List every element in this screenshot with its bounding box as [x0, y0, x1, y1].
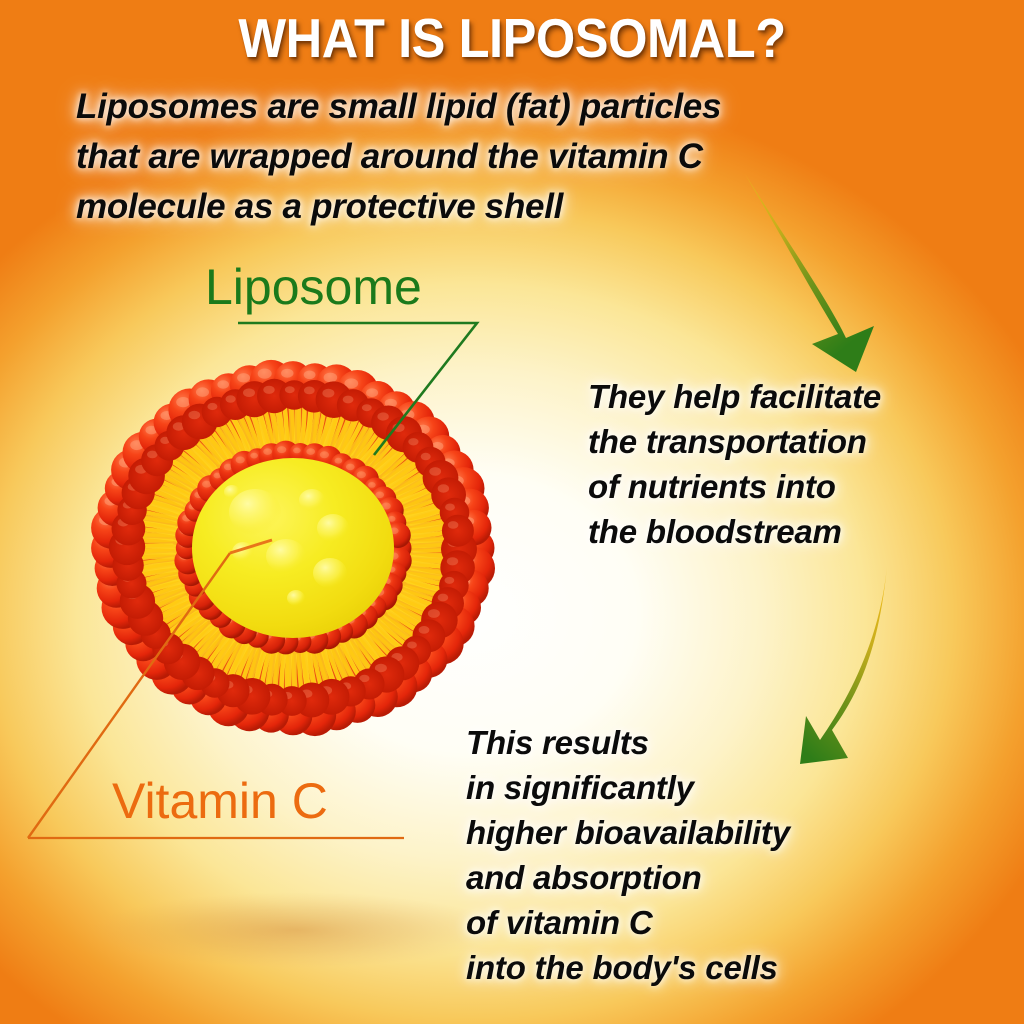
text-block-bioavailability: This results in significantly higher bio…	[466, 720, 790, 990]
body-line: the transportation	[588, 419, 881, 464]
intro-line: that are wrapped around the vitamin C	[76, 132, 966, 182]
body-line: in significantly	[466, 765, 790, 810]
liposome-ground-shadow	[91, 892, 501, 968]
intro-line: molecule as a protective shell	[76, 182, 966, 232]
intro-paragraph: Liposomes are small lipid (fat) particle…	[76, 82, 966, 232]
callout-label-vitamin-c: Vitamin C	[112, 772, 328, 830]
body-line: of nutrients into	[588, 464, 881, 509]
arrow-two	[800, 566, 887, 764]
body-line: higher bioavailability	[466, 810, 790, 855]
body-line: This results	[466, 720, 790, 765]
vitamin-c-core	[192, 458, 394, 638]
body-line: They help facilitate	[588, 374, 881, 419]
body-line: of vitamin C	[466, 900, 790, 945]
callout-label-liposome: Liposome	[205, 258, 422, 316]
text-block-transportation: They help facilitate the transportation …	[588, 374, 881, 554]
intro-line: Liposomes are small lipid (fat) particle…	[76, 82, 966, 132]
infographic-poster: WHAT IS LIPOSOMAL? Liposomes are small l…	[0, 0, 1024, 1024]
body-line: into the body's cells	[466, 945, 790, 990]
body-line: and absorption	[466, 855, 790, 900]
page-title: WHAT IS LIPOSOMAL?	[41, 6, 983, 70]
body-line: the bloodstream	[588, 509, 881, 554]
